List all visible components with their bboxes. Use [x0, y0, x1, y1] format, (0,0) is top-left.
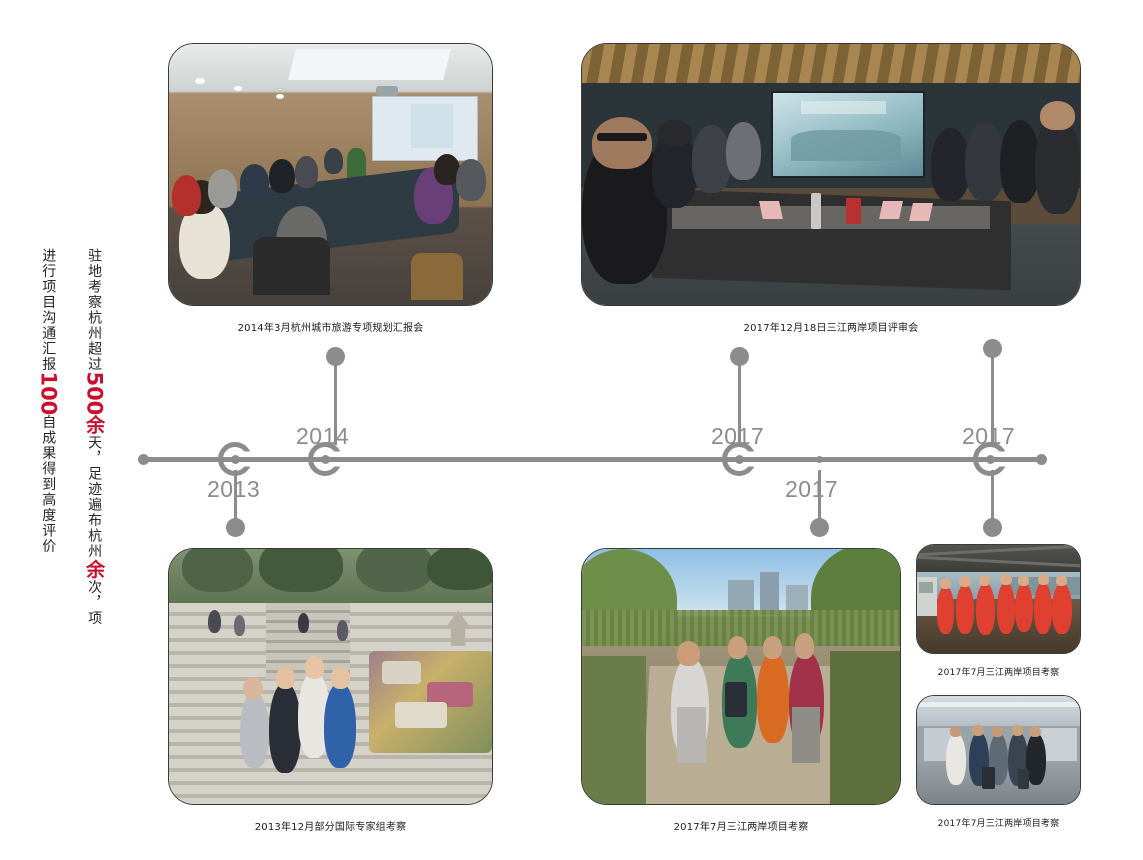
- photo-image-2017-field: [581, 548, 901, 805]
- vertical-text-column-left: 进行项目沟通汇报100自成果得到高度评价: [26, 248, 70, 554]
- vertical-description-block: 驻地考察杭州超过500余天，足迹遍布杭州余次，项 进行项目沟通汇报100自成果得…: [54, 248, 116, 648]
- timeline-marker-2013[interactable]: [218, 442, 252, 476]
- photo-card-2013-experts[interactable]: 2013年12月部分国际专家组考察: [168, 548, 493, 833]
- timeline-year-2017-b: 2017: [785, 476, 838, 503]
- photo-card-2017-boat[interactable]: 2017年7月三江两岸项目考察: [916, 544, 1081, 678]
- timeline-marker-2014[interactable]: [308, 442, 342, 476]
- timeline-marker-2017-c[interactable]: [973, 442, 1007, 476]
- photo-scene: [169, 44, 492, 305]
- timeline-axis: [143, 457, 1044, 462]
- vertical-text-column-right: 驻地考察杭州超过500余天，足迹遍布杭州余次，项: [72, 248, 116, 626]
- connector-line-2017-a: [738, 355, 741, 445]
- vtext-number-500: 500: [82, 371, 107, 415]
- connector-dot-2013: [226, 518, 245, 537]
- photo-scene: [917, 545, 1080, 653]
- marker-dot-icon: [321, 455, 330, 464]
- timeline-marker-2017-a[interactable]: [722, 442, 756, 476]
- connector-dot-2017-a: [730, 347, 749, 366]
- photo-caption-2013-experts: 2013年12月部分国际专家组考察: [168, 818, 493, 833]
- connector-line-2014: [334, 355, 337, 445]
- photo-image-2014-meeting: [168, 43, 493, 306]
- connector-dot-2017-c-top: [983, 339, 1002, 358]
- marker-dot-icon: [735, 455, 744, 464]
- vtext-red-yu-2: 余: [83, 559, 105, 580]
- photo-card-2017-review[interactable]: 2017年12月18日三江两岸项目评审会: [581, 43, 1081, 334]
- photo-image-2013-experts: [168, 548, 493, 805]
- timeline-marker-2017-b[interactable]: [816, 456, 823, 463]
- photo-scene: [169, 549, 492, 804]
- connector-dot-2017-b: [810, 518, 829, 537]
- photo-card-2017-hall[interactable]: 2017年7月三江两岸项目考察: [916, 695, 1081, 829]
- connector-dot-2014: [326, 347, 345, 366]
- photo-card-2017-field[interactable]: 2017年7月三江两岸项目考察: [581, 548, 901, 833]
- marker-dot-icon: [986, 455, 995, 464]
- photo-caption-2014-meeting: 2014年3月杭州城市旅游专项规划汇报会: [168, 319, 493, 334]
- slide-canvas: 驻地考察杭州超过500余天，足迹遍布杭州余次，项 进行项目沟通汇报100自成果得…: [0, 0, 1143, 860]
- photo-image-2017-review: [581, 43, 1081, 306]
- vtext-seg-4: 进行项目沟通汇报: [40, 248, 56, 372]
- vtext-seg-5: 自成果得到高度评价: [40, 415, 56, 555]
- photo-caption-2017-hall: 2017年7月三江两岸项目考察: [916, 816, 1081, 829]
- vtext-seg-1: 驻地考察杭州超过: [86, 248, 102, 372]
- marker-dot-icon: [231, 455, 240, 464]
- connector-line-2017-c-top: [991, 347, 994, 445]
- photo-scene: [582, 549, 900, 804]
- vtext-seg-2: 天，足迹遍布杭州: [86, 435, 102, 559]
- photo-image-2017-boat: [916, 544, 1081, 654]
- vtext-number-100: 100: [36, 371, 61, 415]
- photo-caption-2017-review: 2017年12月18日三江两岸项目评审会: [581, 319, 1081, 334]
- connector-dot-2017-c-bottom: [983, 518, 1002, 537]
- photo-scene: [917, 696, 1080, 804]
- photo-image-2017-hall: [916, 695, 1081, 805]
- vtext-seg-3: 次，项: [86, 580, 102, 627]
- vtext-red-yu-1: 余: [83, 415, 105, 436]
- photo-caption-2017-boat: 2017年7月三江两岸项目考察: [916, 665, 1081, 678]
- photo-card-2014-meeting[interactable]: 2014年3月杭州城市旅游专项规划汇报会: [168, 43, 493, 334]
- photo-scene: [582, 44, 1080, 305]
- photo-caption-2017-field: 2017年7月三江两岸项目考察: [581, 818, 901, 833]
- timeline-end-cap: [1036, 454, 1047, 465]
